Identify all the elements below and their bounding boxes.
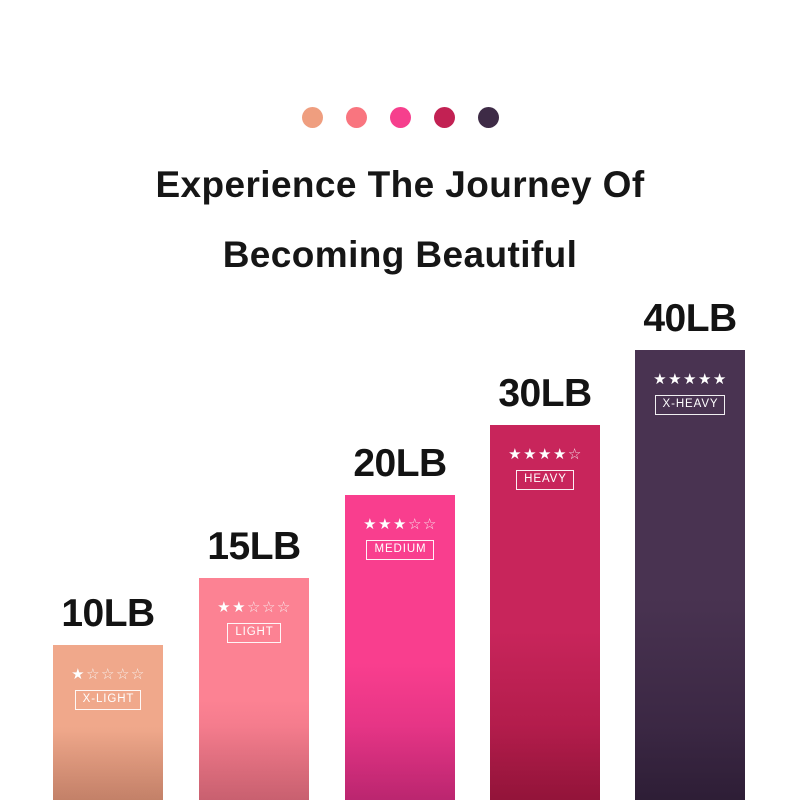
weight-label-40: 40LB (643, 297, 736, 341)
weight-label-10: 10LB (61, 592, 154, 636)
star-rating-20: ★★★☆☆ (354, 517, 446, 532)
star-filled-icon: ★ (698, 372, 712, 387)
level-name-10: X-LIGHT (75, 690, 142, 710)
level-name-15: LIGHT (227, 623, 280, 643)
bar-30lb[interactable]: 30LB★★★★☆HEAVY (490, 425, 600, 800)
star-rating-40: ★★★★★ (644, 372, 736, 387)
star-outline-icon: ☆ (116, 667, 130, 682)
star-outline-icon: ☆ (131, 667, 145, 682)
level-badge-10: ★☆☆☆☆X-LIGHT (62, 667, 154, 710)
star-filled-icon: ★ (653, 372, 667, 387)
star-filled-icon: ★ (683, 372, 697, 387)
bar-40lb[interactable]: 40LB★★★★★X-HEAVY (635, 350, 745, 800)
star-rating-15: ★★☆☆☆ (208, 600, 300, 615)
level-name-20: MEDIUM (366, 540, 433, 560)
bar-fill-30: ★★★★☆HEAVY (490, 425, 600, 800)
star-filled-icon: ★ (713, 372, 727, 387)
star-filled-icon: ★ (668, 372, 682, 387)
star-filled-icon: ★ (378, 517, 392, 532)
promo-infographic: Experience The Journey Of Becoming Beaut… (0, 0, 800, 800)
star-filled-icon: ★ (363, 517, 377, 532)
level-name-30: HEAVY (516, 470, 574, 490)
star-filled-icon: ★ (217, 600, 231, 615)
star-outline-icon: ☆ (247, 600, 261, 615)
star-filled-icon: ★ (508, 447, 522, 462)
weight-label-20: 20LB (353, 442, 446, 486)
star-filled-icon: ★ (553, 447, 567, 462)
star-outline-icon: ☆ (262, 600, 276, 615)
star-filled-icon: ★ (232, 600, 246, 615)
bar-15lb[interactable]: 15LB★★☆☆☆LIGHT (199, 578, 309, 800)
bar-10lb[interactable]: 10LB★☆☆☆☆X-LIGHT (53, 645, 163, 800)
star-outline-icon: ☆ (86, 667, 100, 682)
level-badge-20: ★★★☆☆MEDIUM (354, 517, 446, 560)
weight-label-15: 15LB (207, 525, 300, 569)
bar-20lb[interactable]: 20LB★★★☆☆MEDIUM (345, 495, 455, 800)
star-filled-icon: ★ (393, 517, 407, 532)
star-outline-icon: ☆ (101, 667, 115, 682)
star-rating-10: ★☆☆☆☆ (62, 667, 154, 682)
star-filled-icon: ★ (538, 447, 552, 462)
level-name-40: X-HEAVY (655, 395, 726, 415)
star-rating-30: ★★★★☆ (499, 447, 591, 462)
level-badge-40: ★★★★★X-HEAVY (644, 372, 736, 415)
star-outline-icon: ☆ (408, 517, 422, 532)
level-badge-15: ★★☆☆☆LIGHT (208, 600, 300, 643)
star-outline-icon: ☆ (277, 600, 291, 615)
bar-fill-15: ★★☆☆☆LIGHT (199, 578, 309, 800)
weight-label-30: 30LB (498, 372, 591, 416)
star-filled-icon: ★ (523, 447, 537, 462)
level-badge-30: ★★★★☆HEAVY (499, 447, 591, 490)
resistance-bar-chart: 10LB★☆☆☆☆X-LIGHT15LB★★☆☆☆LIGHT20LB★★★☆☆M… (0, 0, 800, 800)
bar-fill-20: ★★★☆☆MEDIUM (345, 495, 455, 800)
star-outline-icon: ☆ (423, 517, 437, 532)
star-outline-icon: ☆ (568, 447, 582, 462)
star-filled-icon: ★ (71, 667, 85, 682)
bar-fill-40: ★★★★★X-HEAVY (635, 350, 745, 800)
bar-fill-10: ★☆☆☆☆X-LIGHT (53, 645, 163, 800)
